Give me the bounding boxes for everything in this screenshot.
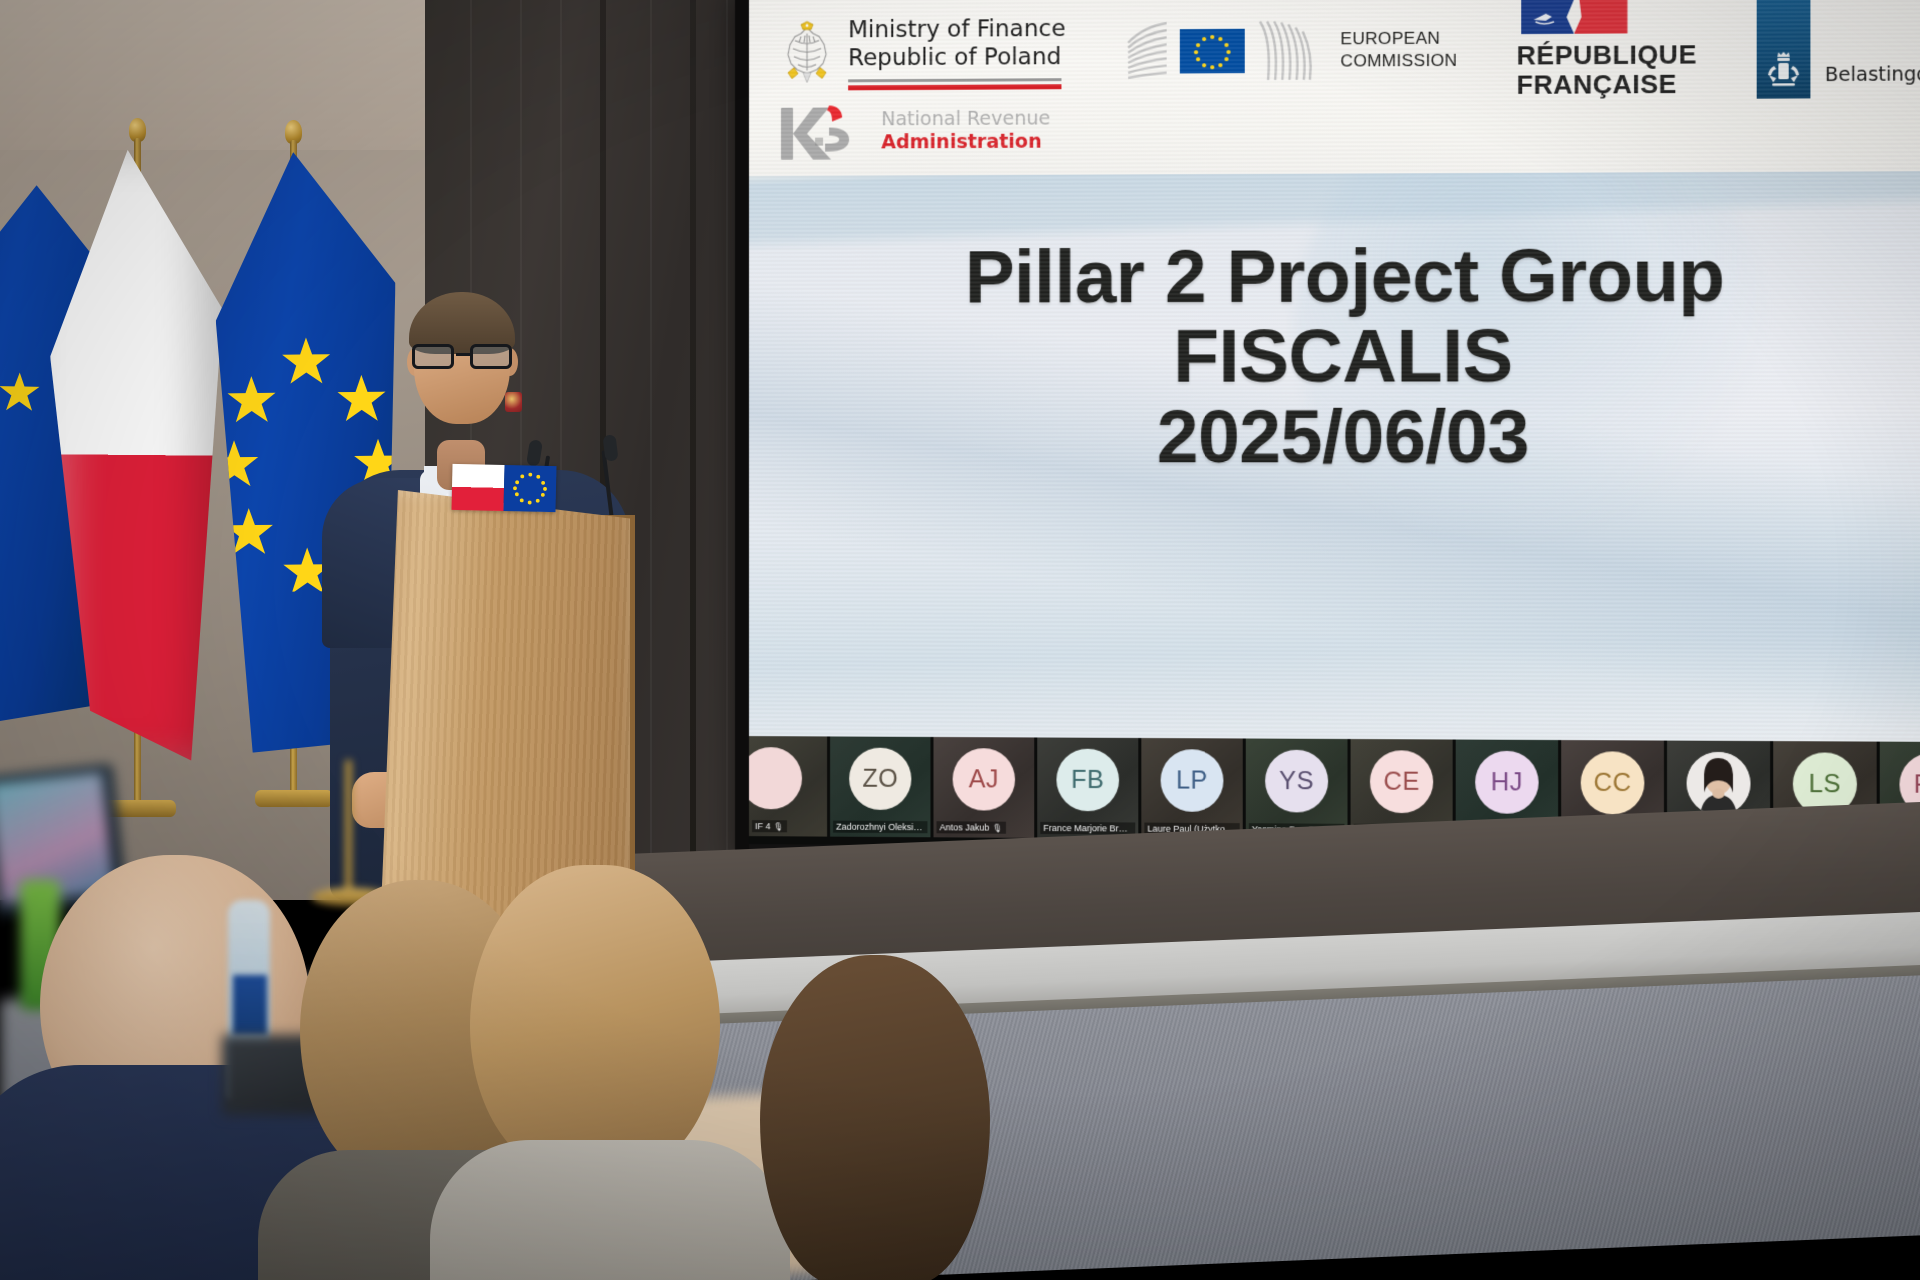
participant-name-label: IF 4🎙 (752, 820, 787, 832)
participant-name-label: Zadorozhnyi Oleksii...🎙 (833, 821, 927, 834)
mof-rule (848, 78, 1061, 90)
kas-line-2: Administration (881, 131, 1050, 155)
participant-name-label: Antos Jakub🎙 (937, 821, 1006, 833)
water-bottle-label (233, 975, 267, 1035)
participant-initials-avatar: CC (1581, 751, 1645, 814)
mof-line-2: Republic of Poland (848, 43, 1065, 72)
slide-title-line-3: 2025/06/03 (749, 398, 1920, 475)
french-flag-marianne-icon (1521, 0, 1628, 34)
participant-initials-avatar: FB (1056, 749, 1119, 812)
gold-table-lamp-stem (345, 760, 352, 895)
slide-title-line-2: FISCALIS (749, 317, 1920, 395)
ec-line-1: EUROPEAN (1340, 28, 1457, 51)
audience-member-head (470, 865, 720, 1175)
ec-wave-left-icon (1124, 20, 1167, 83)
participant-tile[interactable]: ZOZadorozhnyi Oleksii...🎙 (830, 736, 930, 837)
participant-initials-avatar (749, 747, 802, 809)
microphone-muted-icon: 🎙 (774, 822, 784, 831)
participant-initials-avatar: YS (1265, 750, 1328, 813)
participant-initials-avatar: AJ (953, 748, 1015, 811)
panel-seam (690, 0, 696, 980)
panel-slat (650, 0, 652, 980)
participant-initials-avatar: HJ (1475, 751, 1538, 814)
participant-tile[interactable]: FBFrance Marjorie Bru...🎙 (1037, 737, 1138, 838)
polish-eagle-icon (779, 20, 835, 86)
participant-tile[interactable]: IF 4🎙 (749, 736, 827, 837)
poland-eu-flag-plaque (451, 464, 556, 512)
ec-line-2: COMMISSION (1340, 50, 1457, 73)
dutch-crest-icon (1757, 0, 1811, 99)
conference-room-scene: Ministry of Finance Republic of Poland (0, 0, 1920, 1280)
slide-title: Pillar 2 Project Group FISCALIS 2025/06/… (749, 236, 1920, 475)
participant-initials-avatar: ZO (849, 748, 911, 810)
audience-member-body (430, 1140, 790, 1280)
kas-logo-icon (779, 101, 865, 161)
participant-photo-avatar (1687, 752, 1751, 815)
slide-title-line-1: Pillar 2 Project Group (749, 236, 1920, 315)
flag-base (255, 790, 333, 807)
poland-flag-plaque-icon (451, 464, 504, 511)
ec-wave-right-icon (1258, 19, 1315, 82)
eu-flag-icon (1180, 29, 1245, 74)
logo-republique-francaise: RÉPUBLIQUE FRANÇAISE (1517, 0, 1697, 99)
panel-slat (726, 0, 728, 980)
projection-screen: Ministry of Finance Republic of Poland (735, 0, 1920, 872)
eu-flag-plaque-icon (503, 465, 556, 512)
mof-line-1: Ministry of Finance (848, 15, 1065, 45)
microphone-muted-icon: 🎙 (992, 824, 1002, 833)
poland-flag (47, 149, 224, 760)
participant-tile[interactable]: AJAntos Jakub🎙 (933, 737, 1034, 838)
microphone-muted-icon: 🎙 (926, 823, 927, 832)
eyeglasses-icon (410, 344, 514, 370)
logo-belastingdienst: Belastingdienst (1757, 0, 1920, 99)
logo-european-commission: EUROPEAN COMMISSION (1124, 18, 1457, 83)
presentation-slide: Ministry of Finance Republic of Poland (749, 0, 1920, 742)
slide-logo-band: Ministry of Finance Republic of Poland (749, 0, 1920, 176)
logo-ministry-of-finance-poland: Ministry of Finance Republic of Poland (779, 15, 1066, 91)
fr-line-1: RÉPUBLIQUE (1517, 40, 1697, 70)
audience-member-head (760, 955, 990, 1280)
microphone-muted-icon: 🎙 (1134, 825, 1135, 834)
participant-initials-avatar: LP (1161, 749, 1224, 812)
lapel-pin-icon (505, 392, 522, 412)
participant-initials-avatar: CE (1370, 750, 1433, 813)
participant-tile[interactable]: LPLaure Paul (Użytkow...🎙 (1141, 738, 1242, 839)
fr-line-2: FRANÇAISE (1517, 69, 1697, 99)
participant-name-label: France Marjorie Bru...🎙 (1040, 822, 1135, 835)
logo-kas-national-revenue: National Revenue Administration (779, 100, 1050, 161)
kas-line-1: National Revenue (881, 108, 1050, 132)
belastingdienst-label: Belastingdienst (1825, 63, 1920, 98)
